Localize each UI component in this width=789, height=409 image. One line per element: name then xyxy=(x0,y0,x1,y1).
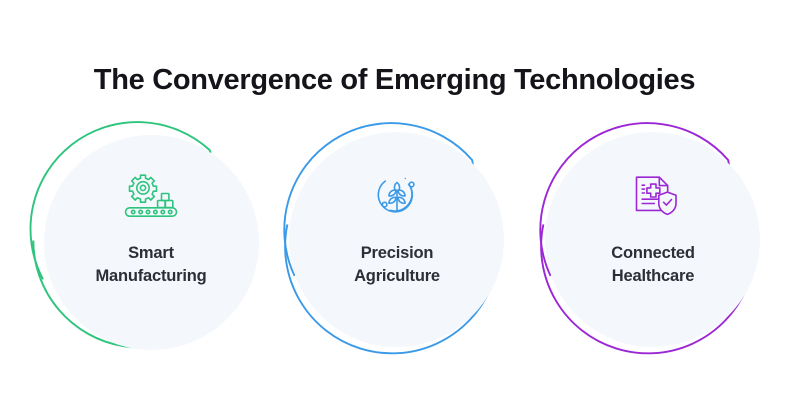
page-title: The Convergence of Emerging Technologies xyxy=(0,63,789,98)
card-label: Connected Healthcare xyxy=(611,242,694,289)
card-label-line-1: Connected xyxy=(611,242,694,265)
card-content: Precision Agriculture xyxy=(282,124,510,352)
card-precision-agriculture[interactable]: Precision Agriculture xyxy=(282,124,510,352)
card-label: Smart Manufacturing xyxy=(95,242,206,289)
card-label-line-1: Smart xyxy=(95,242,206,265)
infographic-canvas: The Convergence of Emerging Technologies xyxy=(0,0,789,409)
card-connected-healthcare[interactable]: Connected Healthcare xyxy=(538,124,766,352)
card-label-line-1: Precision xyxy=(354,242,440,265)
card-label: Precision Agriculture xyxy=(354,242,440,289)
card-content: Connected Healthcare xyxy=(538,124,766,352)
card-smart-manufacturing[interactable]: Smart Manufacturing xyxy=(32,124,260,352)
medical-record-shield-icon xyxy=(622,172,684,220)
card-label-line-2: Manufacturing xyxy=(95,265,206,288)
card-label-line-2: Agriculture xyxy=(354,265,440,288)
gear-conveyor-icon xyxy=(120,172,182,220)
card-label-line-2: Healthcare xyxy=(611,265,694,288)
card-content: Smart Manufacturing xyxy=(32,124,260,352)
wheat-orbit-icon xyxy=(366,172,428,220)
technology-cards-row: Smart Manufacturing xyxy=(0,124,789,352)
